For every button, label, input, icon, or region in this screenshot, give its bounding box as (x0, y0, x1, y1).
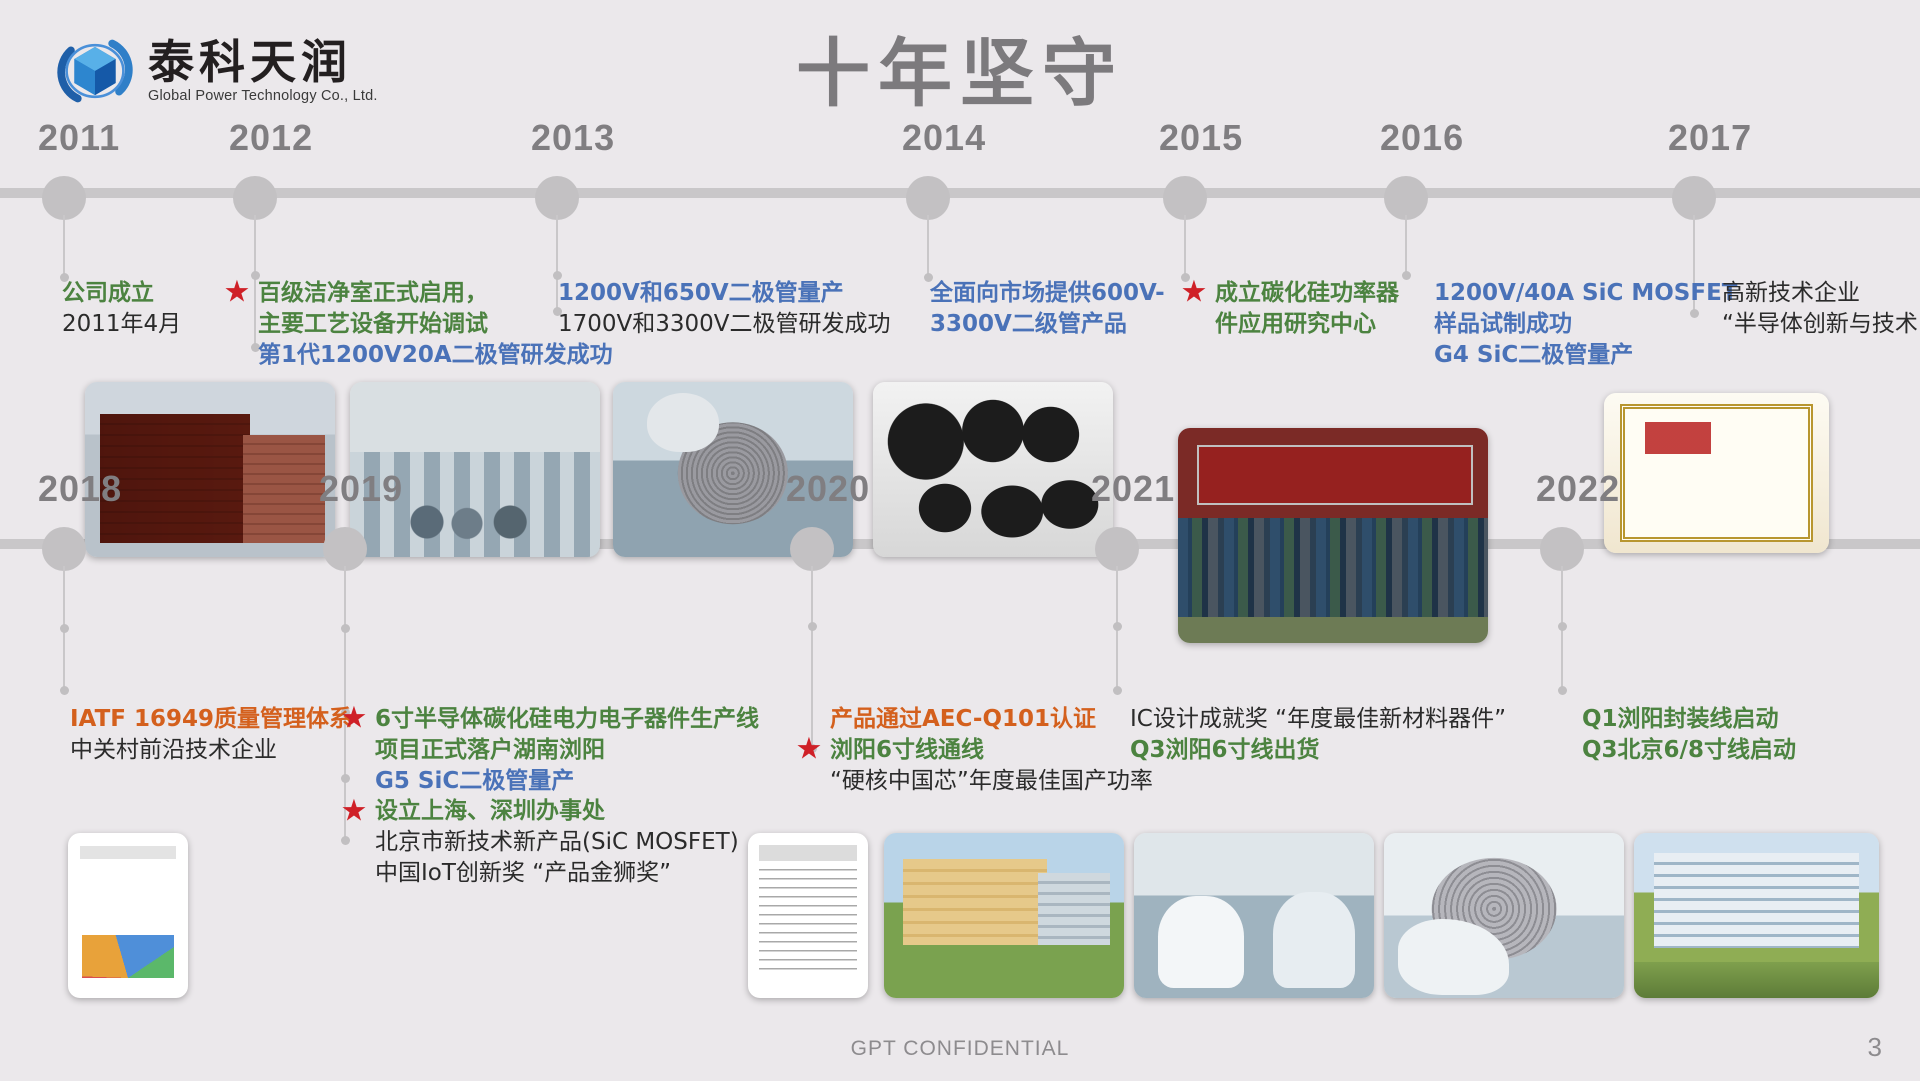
milestone-line: Q3北京6/8寸线启动 (1582, 735, 1796, 766)
milestone-line: 1700V和3300V二极管研发成功 (558, 309, 891, 340)
milestone-line: ★ 成立碳化硅功率器 (1215, 278, 1399, 309)
photo-hightech-enterprise-certificate (1604, 393, 1829, 553)
stem-dot-icon (60, 686, 69, 695)
star-icon: ★ (339, 796, 369, 826)
milestone-text-2020: 产品通过AEC-Q101认证 ★ 浏阳6寸线通线 “硬核中国芯”年度最佳国产功率 (830, 704, 1153, 796)
photo-gloved-hand-wafer (1384, 833, 1624, 998)
photo-discrete-power-devices (873, 382, 1113, 557)
milestone-line: 中关村前沿技术企业 (70, 735, 352, 766)
milestone-line: 1200V和650V二极管量产 (558, 278, 891, 309)
year-dot-icon (42, 176, 86, 220)
connector-stem (63, 566, 65, 694)
milestone-line: Q1浏阳封装线启动 (1582, 704, 1796, 735)
milestone-line: 公司成立 (62, 278, 181, 309)
star-icon: ★ (794, 735, 824, 765)
year-label: 2014 (902, 117, 986, 159)
milestone-line: 产品通过AEC-Q101认证 (830, 704, 1153, 735)
milestone-label: 百级洁净室正式启用， (258, 280, 488, 306)
milestone-label: 成立碳化硅功率器 (1215, 280, 1399, 306)
stem-dot-icon (1113, 686, 1122, 695)
milestone-line: 北京市新技术新产品(SiC MOSFET) (375, 827, 759, 858)
star-icon: ★ (339, 704, 369, 734)
year-label: 2017 (1668, 117, 1752, 159)
milestone-line: 中国IoT创新奖 “产品金狮奖” (375, 858, 759, 889)
year-dot-icon (233, 176, 277, 220)
timeline-axis-row1 (0, 188, 1920, 198)
stem-dot-icon (1558, 622, 1567, 631)
stem-dot-icon (1113, 622, 1122, 631)
photo-liuyang-campus (884, 833, 1124, 998)
photo-sgs-iatf-certificate (68, 833, 188, 998)
year-label: 2013 (531, 117, 615, 159)
milestone-label: 设立上海、深圳办事处 (375, 798, 605, 824)
milestone-text-2016: 1200V/40A SiC MOSFET 样品试制成功 G4 SiC二极管量产 (1434, 278, 1737, 370)
milestone-line: IATF 16949质量管理体系 (70, 704, 352, 735)
year-label: 2016 (1380, 117, 1464, 159)
year-label: 2021 (1091, 468, 1175, 510)
year-label: 2022 (1536, 468, 1620, 510)
milestone-text-2021: IC设计成就奖 “年度最佳新材料器件” Q3浏阳6寸线出货 (1130, 704, 1506, 766)
year-label: 2012 (229, 117, 313, 159)
stem-dot-icon (341, 836, 350, 845)
milestone-line: 第1代1200V20A二极管研发成功 (258, 340, 613, 371)
connector-stem (811, 566, 813, 752)
milestone-line: ★ 设立上海、深圳办事处 (375, 796, 759, 827)
milestone-line: 项目正式落户湖南浏阳 (375, 735, 759, 766)
milestone-line: 1200V/40A SiC MOSFET (1434, 278, 1737, 309)
milestone-line: ★ 6寸半导体碳化硅电力电子器件生产线 (375, 704, 759, 735)
milestone-line: G4 SiC二极管量产 (1434, 340, 1737, 371)
stem-dot-icon (808, 622, 817, 631)
year-label: 2018 (38, 468, 122, 510)
year-dot-icon (1540, 527, 1584, 571)
year-label: 2019 (319, 468, 403, 510)
page-number: 3 (1868, 1032, 1882, 1063)
milestone-line: 2011年4月 (62, 309, 181, 340)
connector-stem (1116, 566, 1118, 694)
year-dot-icon (1095, 527, 1139, 571)
stem-dot-icon (1558, 686, 1567, 695)
milestone-text-2019: ★ 6寸半导体碳化硅电力电子器件生产线 项目正式落户湖南浏阳 G5 SiC二极管… (375, 704, 759, 889)
slide-root: 泰科天润 Global Power Technology Co., Ltd. 十… (0, 0, 1920, 1081)
milestone-text-2015: ★ 成立碳化硅功率器 件应用研究中心 (1215, 278, 1399, 340)
year-dot-icon (323, 527, 367, 571)
year-dot-icon (790, 527, 834, 571)
milestone-text-2013: 1200V和650V二极管量产 1700V和3300V二极管研发成功 (558, 278, 891, 340)
connector-stem (63, 215, 65, 277)
year-dot-icon (535, 176, 579, 220)
connector-stem (254, 215, 256, 351)
photo-aec-q101-test-report (748, 833, 868, 998)
connector-stem (1405, 215, 1407, 279)
milestone-line: “硬核中国芯”年度最佳国产功率 (830, 766, 1153, 797)
year-label: 2011 (38, 117, 120, 159)
year-dot-icon (42, 527, 86, 571)
milestone-text-2011: 公司成立 2011年4月 (62, 278, 181, 340)
photo-cleanroom-operators (1134, 833, 1374, 998)
year-dot-icon (1163, 176, 1207, 220)
milestone-line: “半导体创新与技术 (1722, 309, 1918, 340)
photo-company-group-photo (1178, 428, 1488, 643)
year-dot-icon (1672, 176, 1716, 220)
stem-dot-icon (341, 774, 350, 783)
milestone-text-2022: Q1浏阳封装线启动 Q3北京6/8寸线启动 (1582, 704, 1796, 766)
connector-stem (1184, 215, 1186, 281)
photo-headquarters-building (85, 382, 335, 557)
milestone-line: G5 SiC二极管量产 (375, 766, 759, 797)
milestone-line: 样品试制成功 (1434, 309, 1737, 340)
milestone-line: IC设计成就奖 “年度最佳新材料器件” (1130, 704, 1506, 735)
milestone-text-2014: 全面向市场提供600V- 3300V二级管产品 (930, 278, 1165, 340)
year-dot-icon (1384, 176, 1428, 220)
stem-dot-icon (60, 624, 69, 633)
star-icon: ★ (1179, 278, 1209, 308)
milestone-label: 6寸半导体碳化硅电力电子器件生产线 (375, 706, 759, 732)
star-icon: ★ (222, 278, 252, 308)
milestone-line: 高新技术企业 (1722, 278, 1918, 309)
stem-dot-icon (1402, 271, 1411, 280)
page-title: 十年坚守 (0, 14, 1920, 121)
photo-beijing-fab-building (1634, 833, 1879, 998)
confidential-footer: GPT CONFIDENTIAL (0, 1037, 1920, 1061)
milestone-line: 件应用研究中心 (1215, 309, 1399, 340)
milestone-line: 全面向市场提供600V- (930, 278, 1165, 309)
milestone-line: ★ 浏阳6寸线通线 (830, 735, 1153, 766)
connector-stem (1561, 566, 1563, 694)
milestone-line: Q3浏阳6寸线出货 (1130, 735, 1506, 766)
year-dot-icon (906, 176, 950, 220)
connector-stem (927, 215, 929, 281)
milestone-line: 3300V二级管产品 (930, 309, 1165, 340)
stem-dot-icon (341, 624, 350, 633)
year-label: 2015 (1159, 117, 1243, 159)
milestone-text-2018: IATF 16949质量管理体系 中关村前沿技术企业 (70, 704, 352, 766)
year-label: 2020 (786, 468, 870, 510)
milestone-text-2017: 高新技术企业 “半导体创新与技术 (1722, 278, 1918, 340)
milestone-label: 浏阳6寸线通线 (830, 737, 984, 763)
